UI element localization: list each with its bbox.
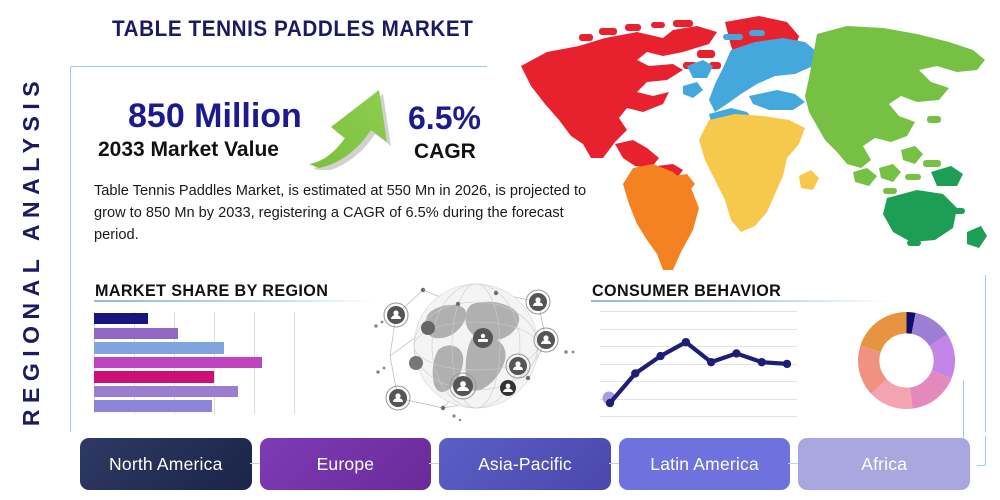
line-marker bbox=[631, 369, 639, 377]
side-label-text: REGIONAL ANALYSIS bbox=[19, 74, 46, 425]
bar-row bbox=[94, 400, 212, 411]
donut-slice bbox=[910, 370, 952, 408]
line-gridline bbox=[600, 416, 797, 417]
map-region-africa bbox=[699, 114, 819, 232]
region-pill-north-america[interactable]: North America bbox=[80, 438, 252, 490]
bar-row bbox=[94, 357, 262, 368]
line-marker bbox=[758, 358, 766, 366]
globe-network-icon bbox=[368, 268, 583, 423]
bar-row bbox=[94, 371, 214, 382]
region-pill-bar: North AmericaEuropeAsia-PacificLatin Ame… bbox=[80, 438, 970, 490]
line-marker bbox=[783, 360, 791, 368]
consumer-behavior-heading: CONSUMER BEHAVIOR bbox=[592, 281, 781, 301]
bar-gridline bbox=[294, 312, 295, 414]
bar-row bbox=[94, 386, 238, 397]
cagr-label: CAGR bbox=[414, 140, 476, 164]
bar-fill bbox=[94, 342, 224, 353]
region-pill-asia-pacific[interactable]: Asia-Pacific bbox=[439, 438, 611, 490]
frame-mask-edge bbox=[975, 432, 1000, 436]
growth-arrow-icon bbox=[305, 80, 405, 170]
bar-fill bbox=[94, 313, 148, 324]
infographic-root: REGIONAL ANALYSIS TABLE TENNIS PADDLES M… bbox=[0, 0, 1000, 500]
market-share-heading: MARKET SHARE BY REGION bbox=[95, 281, 328, 301]
line-marker bbox=[606, 399, 614, 407]
cagr-number: 6.5% bbox=[408, 100, 481, 137]
bar-fill bbox=[94, 386, 238, 397]
region-pill-africa[interactable]: Africa bbox=[798, 438, 970, 490]
line-series bbox=[600, 311, 797, 416]
line-marker bbox=[682, 338, 690, 346]
world-map-icon bbox=[487, 8, 992, 270]
line-marker bbox=[656, 352, 664, 360]
segment-donut-chart bbox=[858, 312, 955, 409]
region-pill-europe[interactable]: Europe bbox=[260, 438, 432, 490]
consumer-behavior-rule bbox=[591, 300, 891, 302]
bar-fill bbox=[94, 400, 212, 411]
region-pill-latin-america[interactable]: Latin America bbox=[619, 438, 791, 490]
side-label: REGIONAL ANALYSIS bbox=[0, 0, 64, 500]
bar-row bbox=[94, 328, 178, 339]
donut-slice bbox=[860, 312, 906, 352]
market-share-bar-chart bbox=[94, 312, 294, 414]
bar-fill bbox=[94, 328, 178, 339]
market-value-label: 2033 Market Value bbox=[98, 138, 279, 162]
map-region-south-america bbox=[623, 164, 699, 270]
map-region-oceania bbox=[883, 166, 987, 248]
line-marker bbox=[707, 358, 715, 366]
consumer-behavior-line-chart bbox=[600, 311, 797, 416]
market-share-rule bbox=[94, 300, 374, 302]
line-marker bbox=[732, 349, 740, 357]
market-value-number: 850 Million bbox=[128, 97, 302, 136]
donut-svg bbox=[858, 312, 955, 409]
bar-fill bbox=[94, 357, 262, 368]
bar-row bbox=[94, 313, 148, 324]
page-title: TABLE TENNIS PADDLES MARKET bbox=[112, 16, 473, 42]
map-region-asia bbox=[805, 26, 985, 194]
bar-row bbox=[94, 342, 224, 353]
bar-fill bbox=[94, 371, 214, 382]
